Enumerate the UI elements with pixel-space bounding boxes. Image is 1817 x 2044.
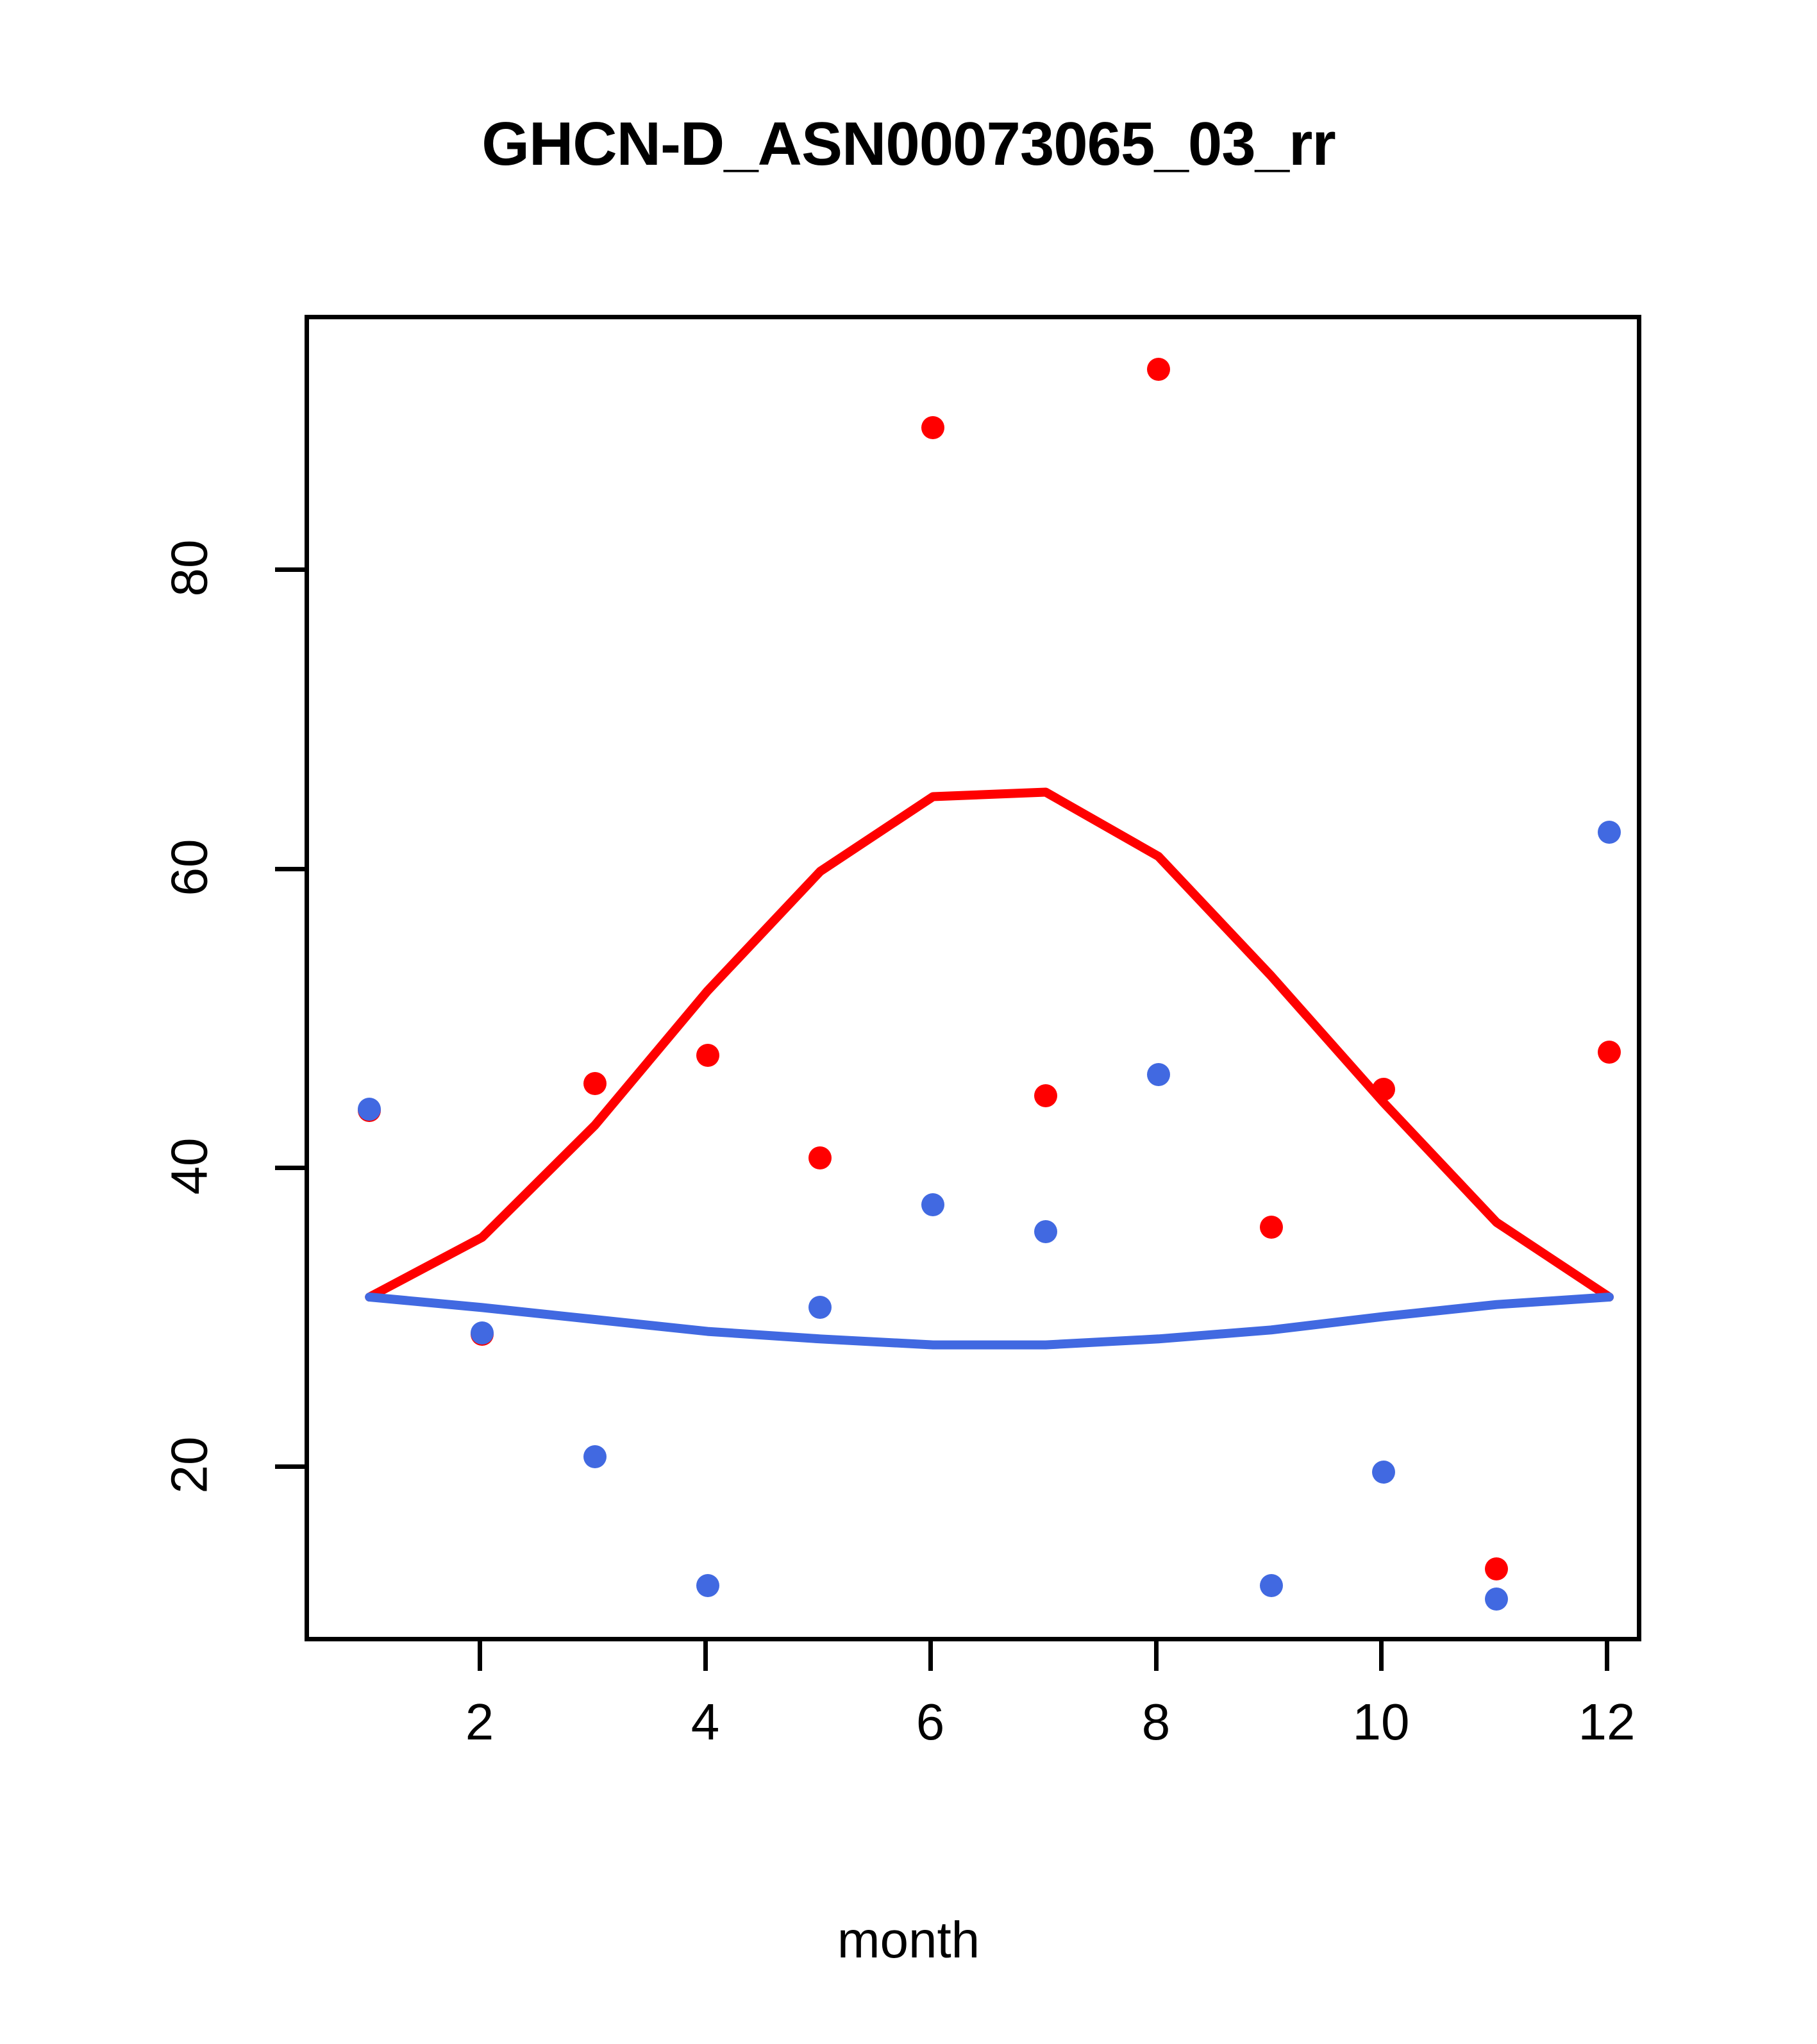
data-point-red [583, 1072, 607, 1095]
y-tick-label-80: 80 [0, 539, 218, 598]
x-tick-label-10: 10 [1317, 1693, 1445, 1752]
data-point-blue [1147, 1063, 1170, 1086]
x-tick-6 [928, 1641, 933, 1671]
data-point-blue [696, 1574, 719, 1597]
data-point-blue [1260, 1574, 1283, 1597]
y-tick-40 [275, 1166, 305, 1170]
plot-frame [305, 315, 1641, 1641]
data-point-red [1147, 358, 1170, 381]
y-tick-label-20: 20 [0, 1436, 218, 1495]
plot-area [309, 319, 1637, 1637]
chart-canvas: GHCN-D_ASN00073065_03_rr 80 60 40 20 2 4… [0, 0, 1817, 2044]
data-point-blue [358, 1098, 381, 1121]
x-tick-label-6: 6 [866, 1693, 994, 1752]
red-trend-line [369, 792, 1609, 1298]
y-tick-label-60: 60 [0, 838, 218, 897]
y-tick-60 [275, 867, 305, 871]
data-point-red [1260, 1216, 1283, 1239]
data-point-blue [1485, 1587, 1508, 1611]
data-point-blue [1598, 821, 1621, 844]
x-axis-label: month [0, 1911, 1817, 1970]
data-point-blue [471, 1321, 494, 1345]
trend-line-layer [309, 319, 1637, 1637]
x-tick-12 [1605, 1641, 1609, 1671]
x-tick-label-12: 12 [1543, 1693, 1671, 1752]
x-tick-8 [1154, 1641, 1159, 1671]
data-point-red [808, 1146, 832, 1169]
data-point-blue [1034, 1220, 1057, 1243]
blue-trend-line [369, 1297, 1609, 1345]
page-title: GHCN-D_ASN00073065_03_rr [0, 109, 1817, 180]
y-tick-label-40: 40 [0, 1137, 218, 1196]
x-tick-label-4: 4 [641, 1693, 769, 1752]
data-point-red [921, 416, 944, 439]
x-tick-label-8: 8 [1092, 1693, 1220, 1752]
data-point-blue [1372, 1461, 1395, 1484]
y-tick-20 [275, 1464, 305, 1469]
data-point-blue [921, 1193, 944, 1216]
x-tick-10 [1379, 1641, 1384, 1671]
data-point-red [1372, 1078, 1395, 1101]
data-point-red [1034, 1084, 1057, 1107]
data-point-red [1598, 1041, 1621, 1064]
x-tick-2 [478, 1641, 482, 1671]
data-point-blue [583, 1445, 607, 1468]
data-point-red [1485, 1557, 1508, 1580]
x-tick-label-2: 2 [415, 1693, 544, 1752]
y-tick-80 [275, 567, 305, 572]
data-point-red [696, 1044, 719, 1067]
data-point-blue [808, 1296, 832, 1319]
x-tick-4 [703, 1641, 708, 1671]
